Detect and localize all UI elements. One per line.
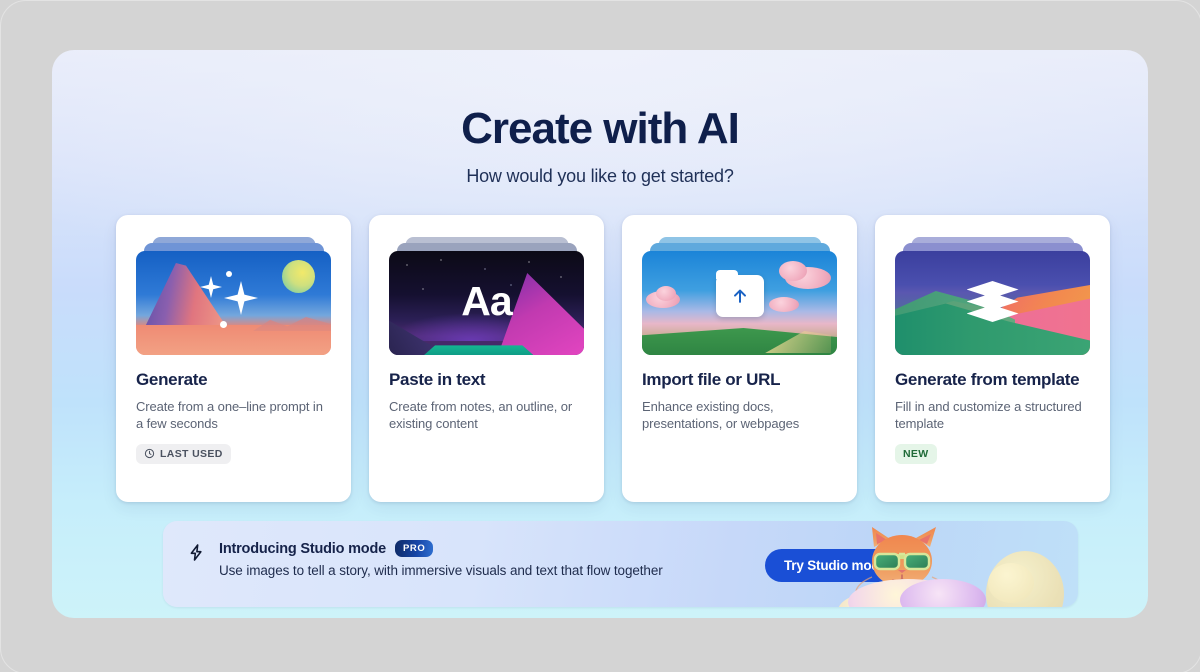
sparkle-dot-icon: [226, 271, 232, 277]
card-import-thumbnail: [642, 237, 837, 355]
badge-label: LAST USED: [160, 448, 223, 460]
modal-header: Create with AI How would you like to get…: [52, 50, 1148, 187]
card-import-file-or-url[interactable]: Import file or URL Enhance existing docs…: [622, 215, 857, 502]
sparkle-dot-icon: [220, 321, 227, 328]
cloud-shape: [779, 261, 807, 281]
lightning-bolt-icon: [187, 543, 206, 562]
card-description: Fill in and customize a structured templ…: [895, 398, 1090, 433]
create-with-ai-modal: Create with AI How would you like to get…: [52, 50, 1148, 618]
status-badge-last-used: LAST USED: [136, 444, 231, 464]
card-title: Import file or URL: [642, 369, 837, 390]
card-generate-thumbnail: [136, 237, 331, 355]
cloud-shape: [988, 563, 1034, 603]
page-title: Create with AI: [52, 106, 1148, 152]
banner-text-block: Introducing Studio mode PRO Use images t…: [219, 540, 663, 578]
thumbnail-image-desert: [136, 251, 331, 355]
cloud-shape: [769, 297, 799, 312]
dune-shape: [253, 313, 331, 331]
badge-label: NEW: [903, 448, 929, 460]
page-subtitle: How would you like to get started?: [52, 166, 1148, 187]
mesa-shape: [144, 263, 228, 329]
card-title: Generate from template: [895, 369, 1090, 390]
card-description: Create from notes, an outline, or existi…: [389, 398, 584, 433]
card-template-thumbnail: [895, 237, 1090, 355]
layers-icon: [967, 281, 1019, 325]
cloud-shape: [656, 286, 676, 301]
studio-mode-banner[interactable]: Introducing Studio mode PRO Use images t…: [163, 521, 1078, 607]
cat-illustration: [838, 521, 1078, 607]
pro-badge: PRO: [395, 540, 433, 557]
sparkle-icon: [224, 281, 258, 315]
card-paste-thumbnail: Aa: [389, 237, 584, 355]
card-generate-from-template[interactable]: Generate from template Fill in and custo…: [875, 215, 1110, 502]
desktop-backdrop: Create with AI How would you like to get…: [0, 0, 1200, 672]
card-paste-in-text[interactable]: Aa Paste in text Create from notes, an o…: [369, 215, 604, 502]
card-generate[interactable]: Generate Create from a one–line prompt i…: [116, 215, 351, 502]
upload-arrow-icon: [730, 286, 750, 306]
layer-shape: [967, 281, 1019, 298]
aa-typography-icon: Aa: [389, 251, 584, 355]
banner-subtext: Use images to tell a story, with immersi…: [219, 563, 663, 578]
clock-icon: [144, 448, 155, 459]
status-badge-new: NEW: [895, 444, 937, 464]
folder-upload-icon: [716, 275, 764, 317]
card-title: Generate: [136, 369, 331, 390]
sun-icon: [282, 260, 315, 293]
banner-content: Introducing Studio mode PRO Use images t…: [187, 540, 663, 578]
banner-headline-row: Introducing Studio mode PRO: [219, 540, 663, 557]
option-cards-row: Generate Create from a one–line prompt i…: [116, 215, 1084, 502]
banner-headline: Introducing Studio mode: [219, 541, 386, 557]
thumbnail-image-hills: [895, 251, 1090, 355]
card-title: Paste in text: [389, 369, 584, 390]
card-description: Create from a one–line prompt in a few s…: [136, 398, 331, 433]
card-description: Enhance existing docs, presentations, or…: [642, 398, 837, 433]
thumbnail-image-sky-field: [642, 251, 837, 355]
thumbnail-image-aurora: Aa: [389, 251, 584, 355]
